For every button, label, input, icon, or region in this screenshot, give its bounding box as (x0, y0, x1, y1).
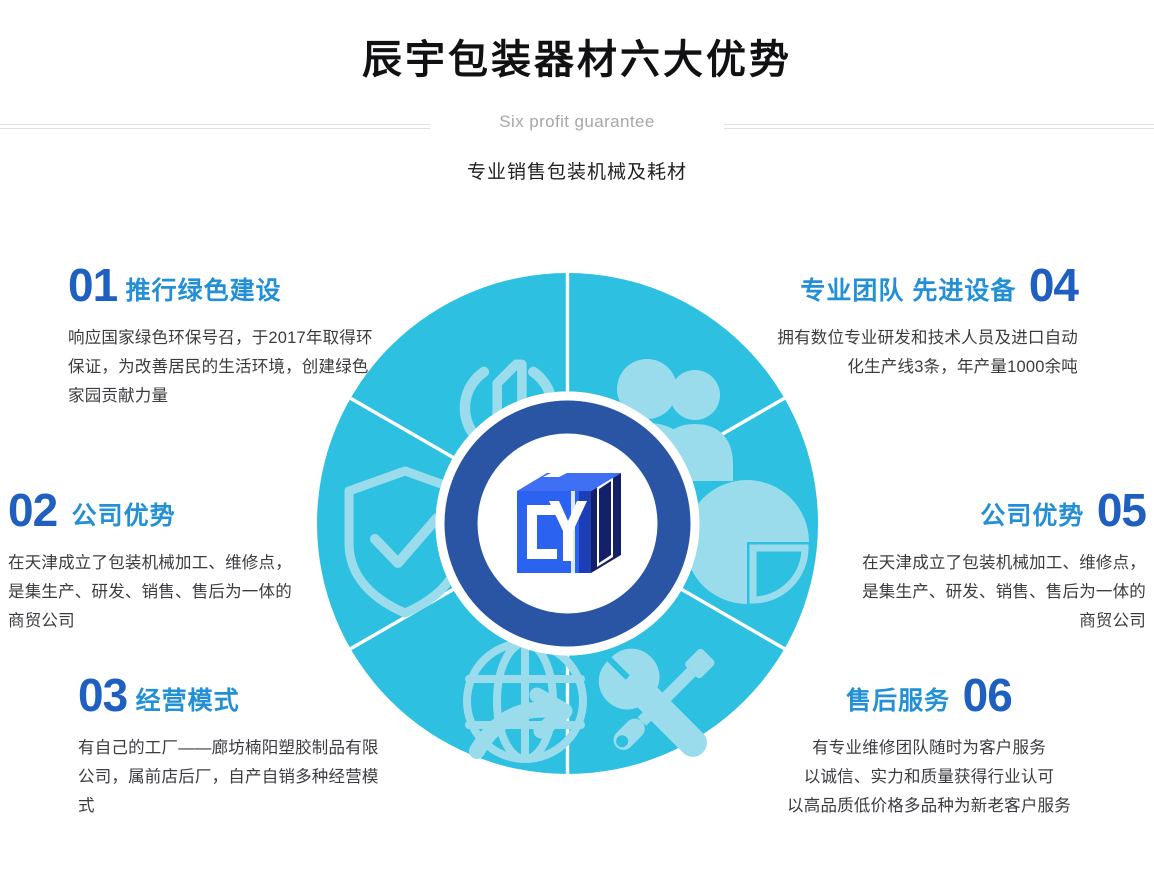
header: 辰宇包装器材六大优势 Six profit guarantee 专业销售包装机械… (0, 0, 1154, 200)
item-06-number: 06 (963, 669, 1012, 721)
item-06-body: 有专业维修团队随时为客户服务 以诚信、实力和质量获得行业认可 以高品质低价格多品… (774, 734, 1084, 821)
advantage-item-05: 公司优势 05 在天津成立了包装机械加工、维修点，是集生产、研发、销售、售后为一… (846, 487, 1146, 636)
item-01-number: 01 (68, 259, 117, 311)
item-03-body: 有自己的工厂——廊坊楠阳塑胶制品有限公司，属前店后厂，自产自销多种经营模式 (78, 734, 383, 821)
item-02-name: 公司优势 (72, 502, 176, 530)
item-02-body: 在天津成立了包装机械加工、维修点，是集生产、研发、销售、售后为一体的商贸公司 (8, 549, 308, 636)
item-02-heading: 02 公司优势 (8, 487, 308, 533)
item-05-body: 在天津成立了包装机械加工、维修点，是集生产、研发、销售、售后为一体的商贸公司 (846, 549, 1146, 636)
subtitle-row: Six profit guarantee (0, 104, 1154, 144)
advantage-item-06: 售后服务 06 有专业维修团队随时为客户服务 以诚信、实力和质量获得行业认可 以… (774, 672, 1084, 821)
item-03-number: 03 (78, 669, 127, 721)
item-04-heading: 专业团队 先进设备 04 (773, 262, 1078, 308)
subtitle-english: Six profit guarantee (0, 112, 1154, 132)
item-04-body: 拥有数位专业研发和技术人员及进口自动化生产线3条，年产量1000余吨 (773, 324, 1078, 382)
advantage-item-02: 02 公司优势 在天津成立了包装机械加工、维修点，是集生产、研发、销售、售后为一… (8, 487, 308, 636)
item-03-name: 经营模式 (136, 687, 240, 715)
advantage-item-01: 01 推行绿色建设 响应国家绿色环保号召，于2017年取得环保证，为改善居民的生… (68, 262, 373, 411)
item-04-number: 04 (1029, 259, 1078, 311)
item-02-number: 02 (8, 484, 57, 536)
cy-box-logo (517, 473, 621, 573)
hexagonal-advantage-wheel (317, 273, 818, 774)
item-05-number: 05 (1097, 484, 1146, 536)
item-01-body: 响应国家绿色环保号召，于2017年取得环保证，为改善居民的生活环境，创建绿色家园… (68, 324, 373, 411)
advantage-item-03: 03 经营模式 有自己的工厂——廊坊楠阳塑胶制品有限公司，属前店后厂，自产自销多… (78, 672, 383, 821)
item-04-name: 专业团队 先进设备 (800, 277, 1016, 305)
item-01-heading: 01 推行绿色建设 (68, 262, 373, 308)
advantage-item-04: 专业团队 先进设备 04 拥有数位专业研发和技术人员及进口自动化生产线3条，年产… (773, 262, 1078, 382)
item-06-name: 售后服务 (846, 687, 950, 715)
item-03-heading: 03 经营模式 (78, 672, 383, 718)
pie-chart-icon (685, 480, 809, 604)
item-01-name: 推行绿色建设 (126, 277, 282, 305)
item-06-heading: 售后服务 06 (774, 672, 1084, 718)
page-title: 辰宇包装器材六大优势 (0, 36, 1154, 84)
item-05-name: 公司优势 (980, 502, 1084, 530)
item-05-heading: 公司优势 05 (846, 487, 1146, 533)
tagline: 专业销售包装机械及耗材 (0, 157, 1154, 184)
